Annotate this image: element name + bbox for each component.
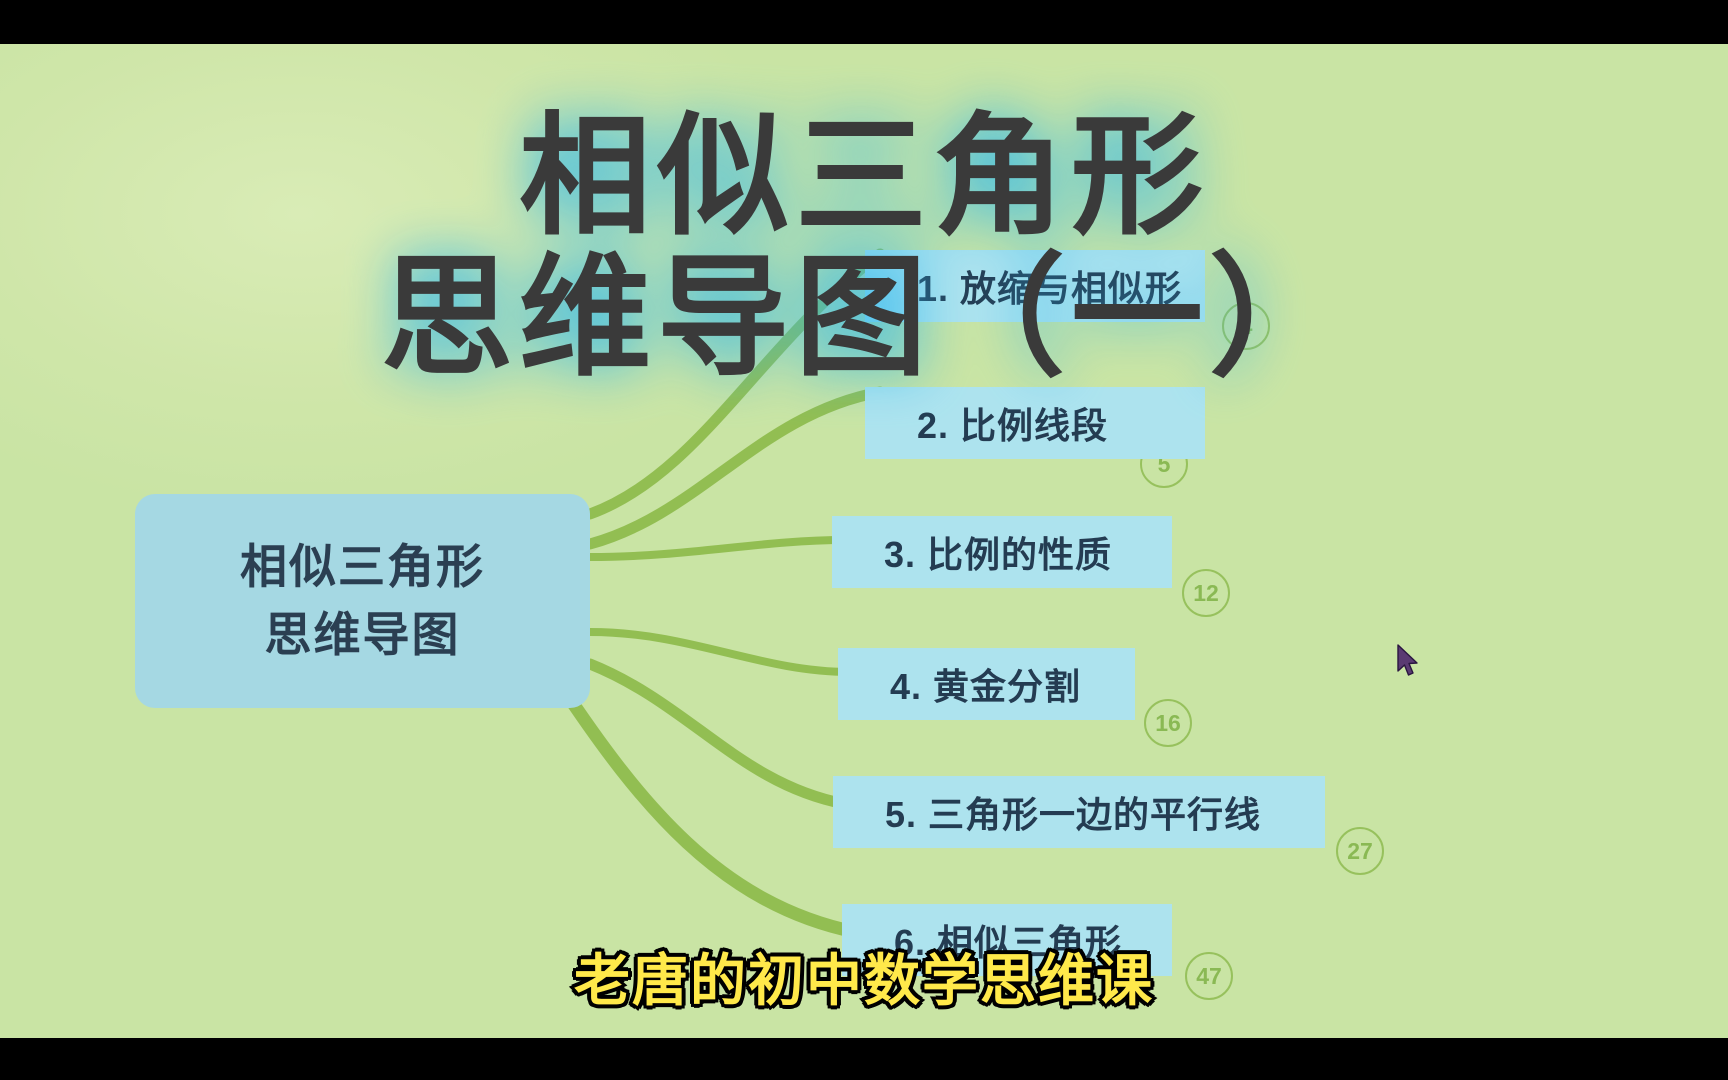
center-node-line1: 相似三角形 <box>240 533 485 601</box>
branch-node-5-label: 5. 三角形一边的平行线 <box>833 786 1261 838</box>
branch-badge-5: 27 <box>1336 827 1384 875</box>
branch-node-2-label: 2. 比例线段 <box>865 397 1108 449</box>
center-node-line2: 思维导图 <box>265 601 461 669</box>
branch-badge-4: 16 <box>1144 699 1192 747</box>
branch-node-1[interactable]: 1. 放缩与相似形 <box>865 250 1205 322</box>
branch-badge-3: 12 <box>1182 569 1230 617</box>
branch-badge-1: 4 <box>1222 302 1270 350</box>
branch-node-4-label: 4. 黄金分割 <box>838 658 1081 710</box>
screen-root: 相似三角形 思维导图 1. 放缩与相似形 2. 比例线段 3. 比例的性质 4.… <box>0 0 1728 1080</box>
branch-node-4[interactable]: 4. 黄金分割 <box>838 648 1135 720</box>
letterbox-bar-bottom <box>0 1038 1728 1080</box>
branch-node-1-label: 1. 放缩与相似形 <box>865 260 1182 312</box>
video-caption: 老唐的初中数学思维课 <box>0 936 1728 1017</box>
branch-node-2[interactable]: 2. 比例线段 <box>865 387 1205 459</box>
branch-node-3-label: 3. 比例的性质 <box>832 526 1112 578</box>
branch-node-3[interactable]: 3. 比例的性质 <box>832 516 1172 588</box>
mindmap-canvas[interactable]: 相似三角形 思维导图 1. 放缩与相似形 2. 比例线段 3. 比例的性质 4.… <box>0 44 1728 1038</box>
mouse-pointer-icon <box>1396 644 1422 680</box>
letterbox-bar-top <box>0 0 1728 44</box>
branch-node-5[interactable]: 5. 三角形一边的平行线 <box>833 776 1325 848</box>
center-node[interactable]: 相似三角形 思维导图 <box>135 494 590 708</box>
